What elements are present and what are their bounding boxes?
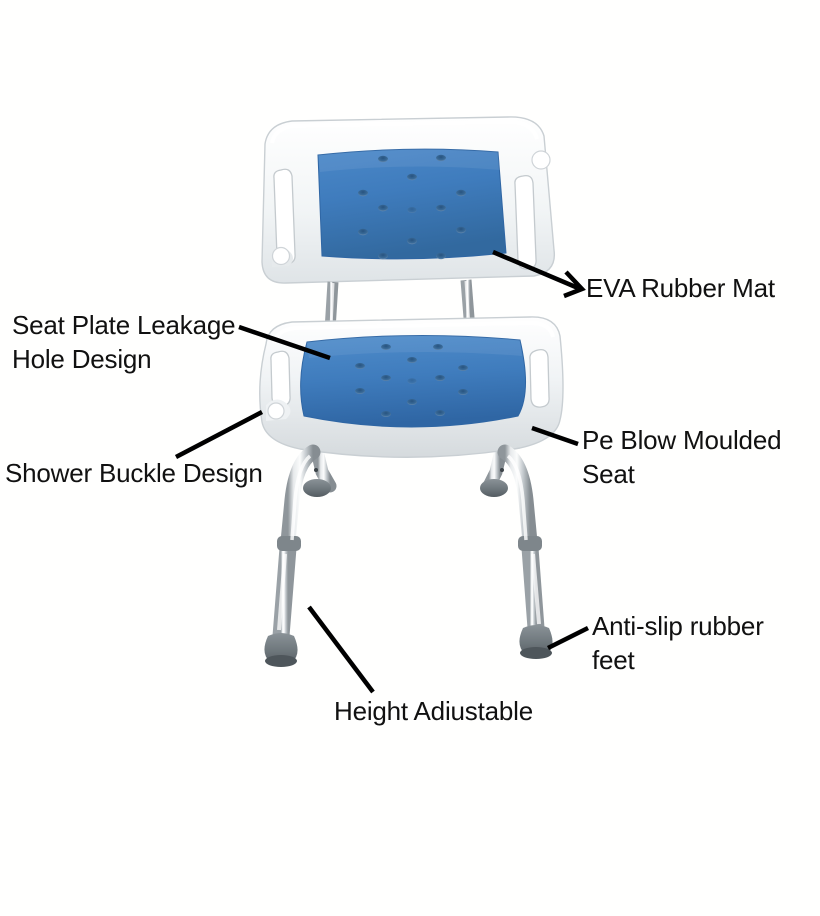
backrest-right-handle-slot — [515, 176, 536, 269]
callout-label-height-adiustable: Height Adiustable — [334, 694, 594, 728]
rear-legs — [303, 455, 508, 497]
diagram-canvas: EVA Rubber Mat Seat Plate Leakage Hole D… — [0, 0, 820, 916]
callout-label-anti-slip-rubber-feet: Anti-slip rubber feet — [592, 609, 806, 677]
seat-shell — [260, 317, 563, 457]
callout-label-seat-plate-leakage-hole-design: Seat Plate Leakage Hole Design — [12, 308, 262, 376]
seat-left-handle-slot — [271, 351, 290, 406]
callout-label-eva-rubber-mat: EVA Rubber Mat — [586, 271, 812, 305]
callout-label-shower-buckle-design: Shower Buckle Design — [5, 456, 295, 490]
callout-label-pe-blow-moulded-seat: Pe Blow Moulded Seat — [582, 423, 814, 491]
backrest-buckle-notch-left — [273, 248, 290, 265]
seat-right-handle-slot — [530, 350, 549, 407]
seat-buckle-notch — [268, 403, 284, 419]
right-leg-height-collar — [518, 536, 542, 551]
backrest-shell — [262, 117, 554, 283]
left-leg-height-collar — [277, 536, 301, 551]
